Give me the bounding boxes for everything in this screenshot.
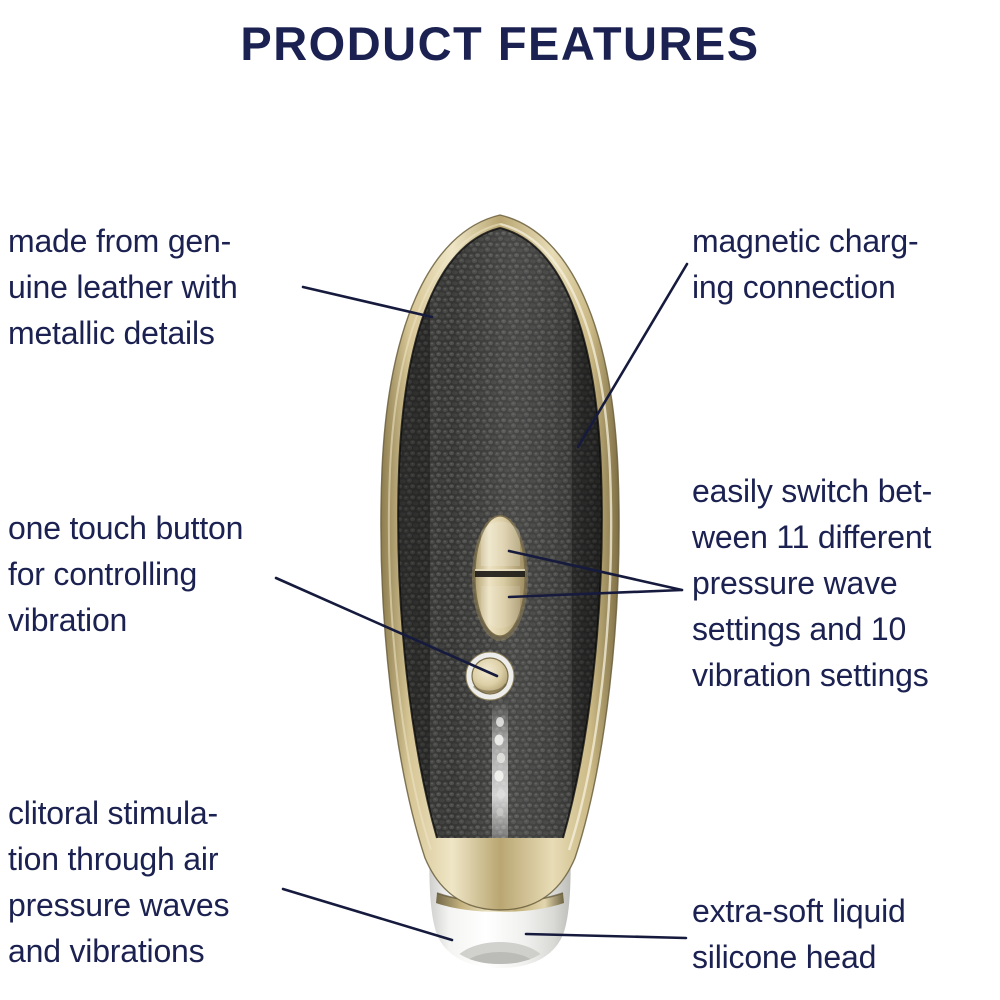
leader-line-leather: [303, 287, 432, 317]
leader-line-magnetic: [578, 264, 687, 447]
leader-lines: [0, 0, 1000, 1000]
leader-line-one-touch: [276, 578, 497, 676]
product-features-infographic: PRODUCT FEATURES: [0, 0, 1000, 1000]
leader-line-settings-minus: [509, 590, 682, 597]
leader-line-settings-plus: [509, 551, 682, 590]
leader-line-silicone: [526, 934, 686, 938]
leader-line-clitoral: [283, 889, 452, 940]
